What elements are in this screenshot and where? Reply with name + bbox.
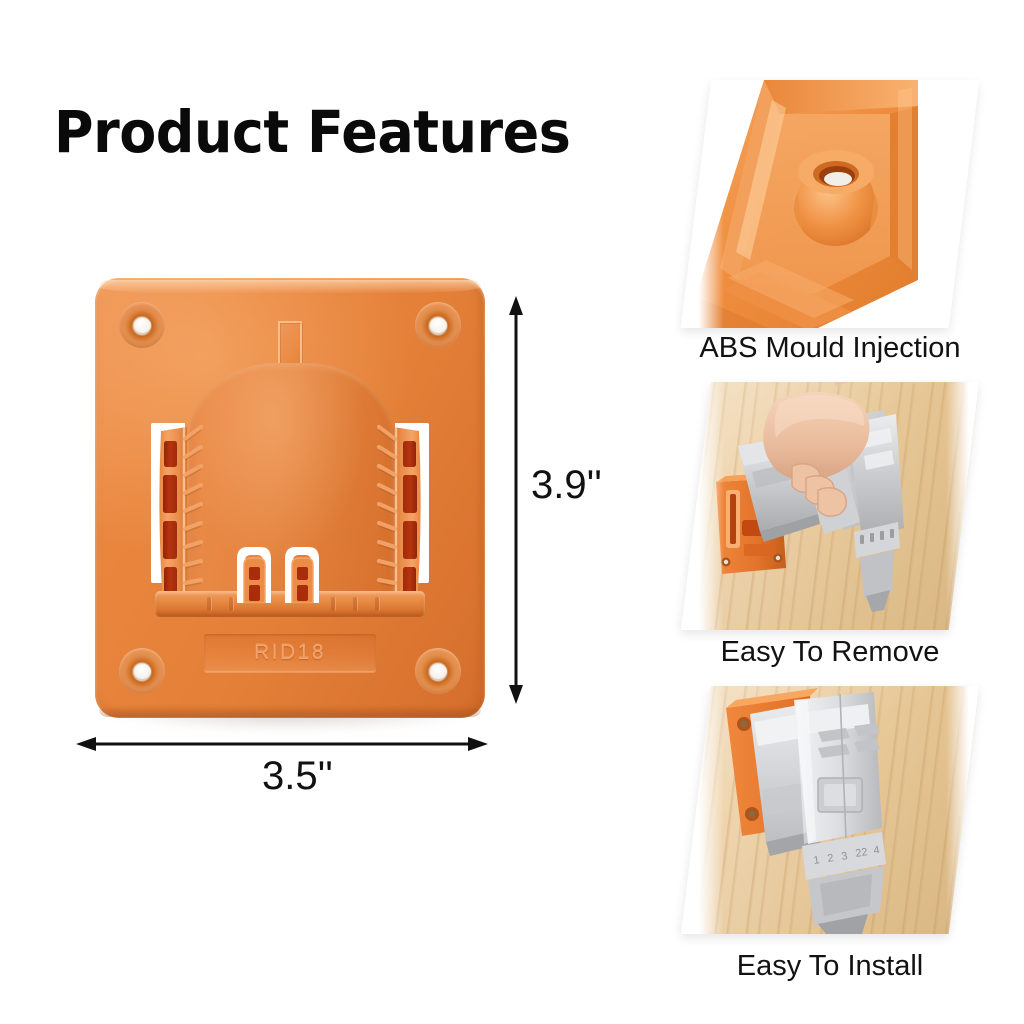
photo-edge-right [946, 382, 979, 630]
photo-edge-right [946, 80, 979, 328]
feature-photo-inner [681, 382, 979, 630]
screw-hole-bottom-left [119, 648, 165, 694]
model-code-text: RID18 [254, 641, 326, 665]
photo-edge-left [681, 80, 724, 328]
feature-caption-easy-to-remove: Easy To Remove [660, 636, 1000, 669]
retaining-clip-left [235, 545, 273, 603]
ledge-groove [353, 597, 357, 611]
photo-edge-left [681, 686, 724, 934]
ledge-groove [331, 597, 335, 611]
macro-moulding-illustration [681, 80, 979, 328]
dimension-width-label: 3.5'' [262, 754, 333, 799]
photo-edge-left [681, 382, 724, 630]
guide-rail-left [157, 423, 201, 613]
mount-plate: RID18 [95, 278, 485, 718]
ledge-groove [375, 597, 379, 611]
feature-caption-easy-to-install: Easy To Install [660, 950, 1000, 983]
feature-caption-abs-mould-injection: ABS Mould Injection [660, 332, 1000, 365]
dimension-arrow-height [506, 296, 526, 704]
screw-hole-top-left [119, 302, 165, 348]
screw-hole-top-right [415, 302, 461, 348]
feature-photo-inner: 1 2 3 22 4 [681, 686, 979, 934]
screw-hole-bottom-right [415, 648, 461, 694]
feature-panel-easy-to-remove: Easy To Remove [660, 382, 1000, 630]
ledge-groove [207, 597, 211, 611]
retaining-clip-right [283, 545, 321, 603]
plate-bottom-bevel [99, 705, 481, 717]
guide-rail-right [379, 423, 423, 613]
feature-photo-inner [681, 80, 979, 328]
product-figure: RID18 [0, 0, 540, 820]
feature-panel-easy-to-install: 1 2 3 22 4 Easy To Install [660, 686, 1000, 934]
feature-photo-easy-to-install: 1 2 3 22 4 [681, 686, 979, 934]
dimension-height-label: 3.9'' [531, 463, 602, 508]
svg-text:22: 22 [855, 846, 869, 860]
plate-top-bevel [99, 280, 481, 293]
drill-removal-illustration [681, 382, 979, 630]
drill-installed-illustration: 1 2 3 22 4 [681, 686, 979, 934]
feature-panel-abs-mould-injection: ABS Mould Injection [660, 80, 1000, 328]
model-code-badge: RID18 [204, 634, 376, 672]
feature-photo-easy-to-remove [681, 382, 979, 630]
photo-edge-right [946, 686, 979, 934]
ledge-groove [229, 597, 233, 611]
battery-cavity [151, 423, 429, 618]
dimension-arrow-width [76, 734, 488, 754]
feature-photo-abs-mould-injection [681, 80, 979, 328]
